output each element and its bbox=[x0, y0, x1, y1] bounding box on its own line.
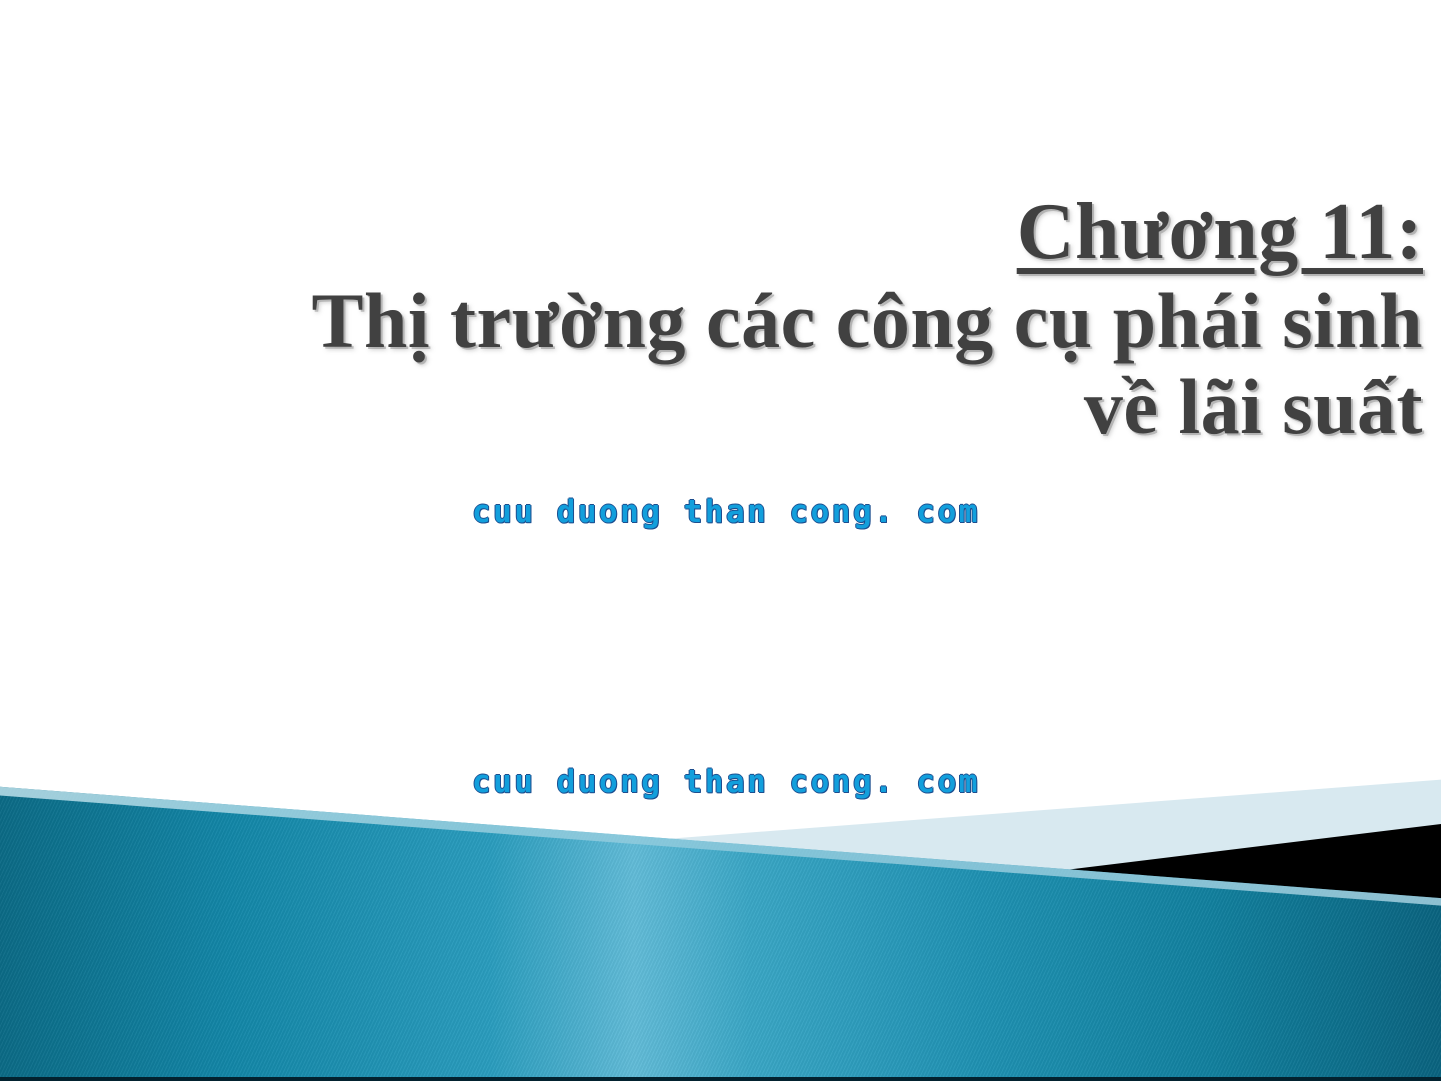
title-line-2: Thị trường các công cụ phái sinh bbox=[0, 278, 1423, 364]
title-line-3: về lãi suất bbox=[0, 364, 1423, 450]
slide-canvas: Chương 11: Thị trường các công cụ phái s… bbox=[0, 0, 1441, 1081]
watermark-top: cuu duong than cong. com bbox=[472, 494, 980, 530]
watermark-bottom: cuu duong than cong. com bbox=[472, 764, 980, 800]
page-title: Chương 11: Thị trường các công cụ phái s… bbox=[0, 186, 1441, 450]
decor-bottom-rule bbox=[0, 1077, 1441, 1081]
title-line-1-text: Chương 11: bbox=[1017, 188, 1423, 276]
title-line-1: Chương 11: bbox=[0, 186, 1423, 278]
